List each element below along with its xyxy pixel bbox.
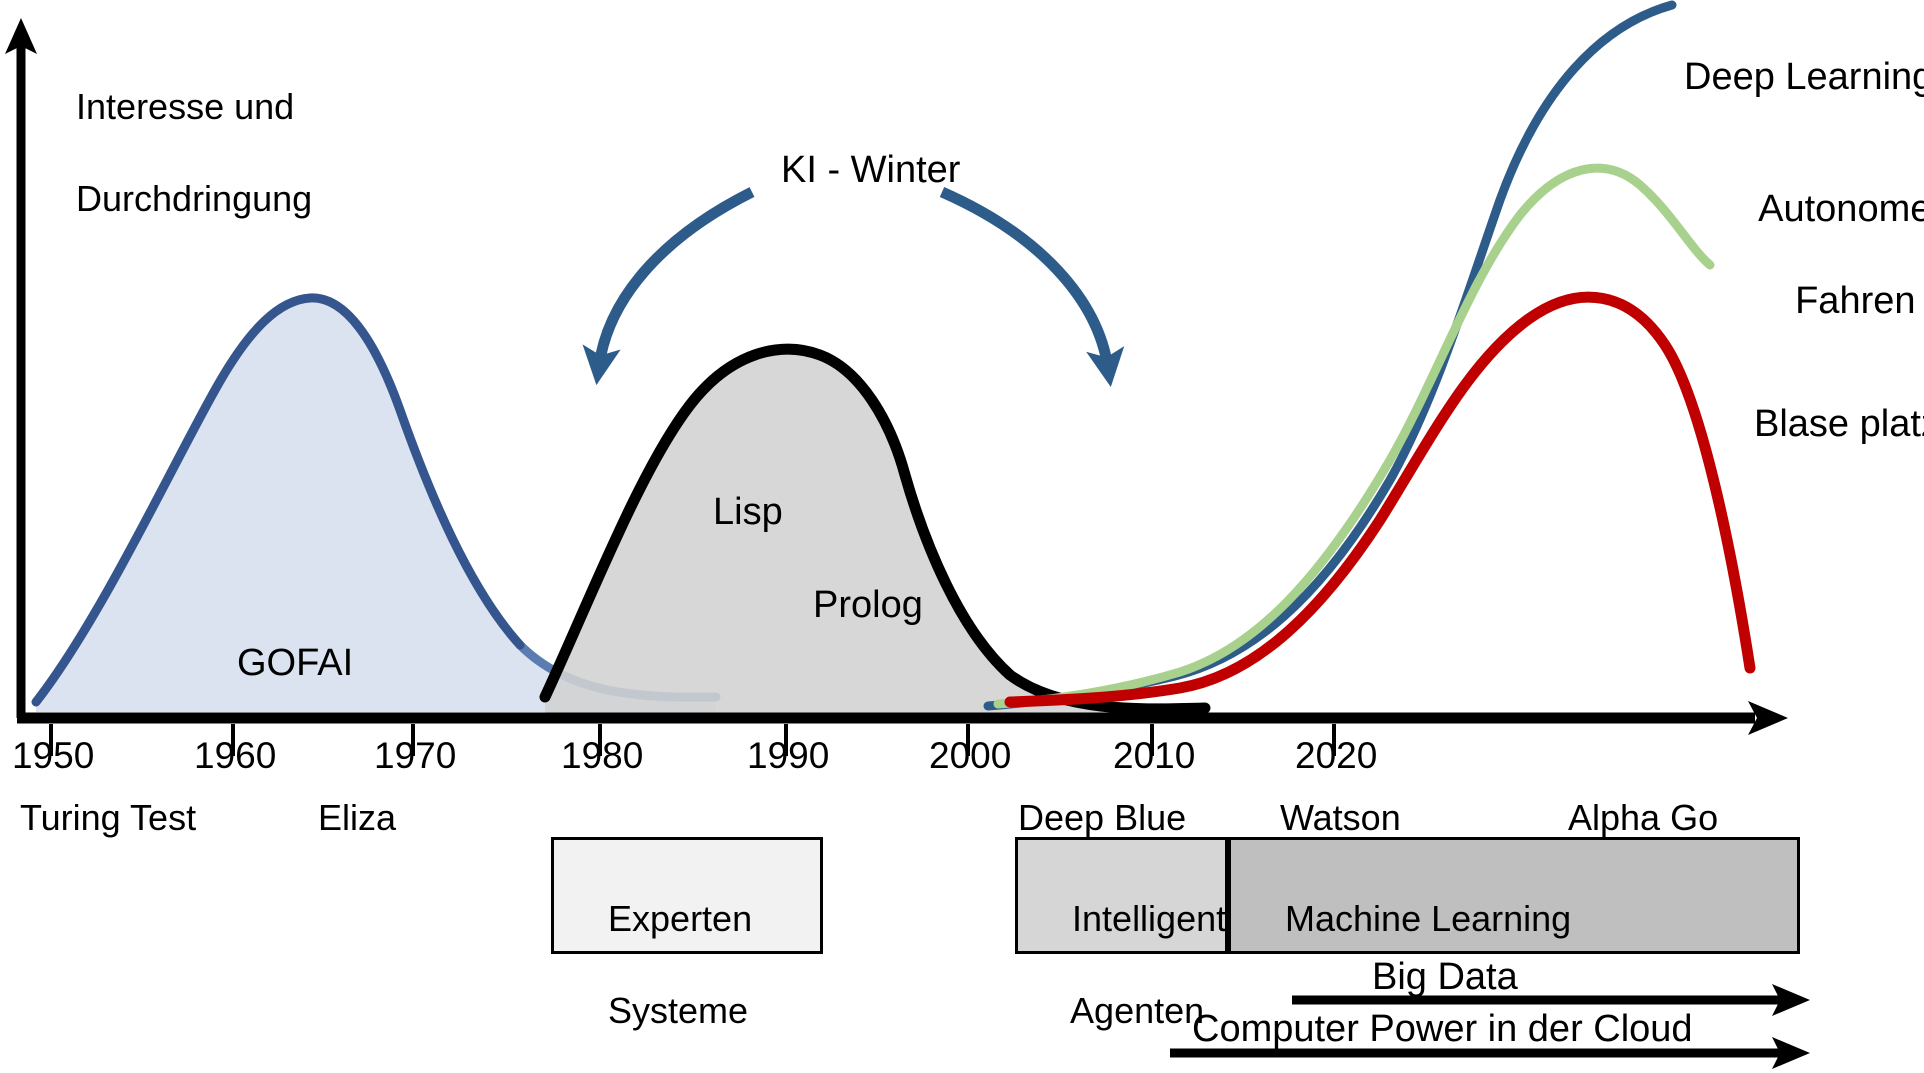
curve-label-prolog: Prolog [813, 582, 923, 628]
x-tick-label-2010: 2010 [1113, 733, 1195, 779]
era-box-expert-systems: Experten Systeme [551, 837, 823, 954]
era-box-expert-line2: Systeme [608, 990, 748, 1031]
era-box-ml-label: Machine Learning [1285, 898, 1571, 939]
x-tick-label-2020: 2020 [1295, 733, 1377, 779]
x-tick-label-1970: 1970 [374, 733, 456, 779]
era-box-agents-line1: Intelligente [1072, 898, 1246, 939]
x-tick-label-1950: 1950 [12, 733, 94, 779]
x-tick-label-1980: 1980 [561, 733, 643, 779]
ki-winter-arrow-right [942, 192, 1108, 368]
era-box-machine-learning: Machine Learning [1228, 837, 1800, 954]
curve-label-ki-winter: KI - Winter [781, 147, 960, 193]
milestone-eliza: Eliza [318, 795, 396, 841]
curve-label-gofai: GOFAI [237, 640, 353, 686]
curve-label-lisp: Lisp [713, 489, 783, 535]
trend-label-big-data: Big Data [1372, 954, 1518, 1000]
milestone-alpha-go: Alpha Go [1568, 795, 1718, 841]
milestone-watson: Watson [1280, 795, 1401, 841]
curve-label-bubble-burst: Blase platzt [1754, 401, 1924, 447]
autonomous-line1: Autonomes [1758, 188, 1924, 230]
milestone-deep-blue: Deep Blue [1018, 795, 1186, 841]
era-box-agents-line2: Agenten [1070, 990, 1204, 1031]
y-axis-label-line1: Interesse und [76, 86, 294, 127]
y-axis-label: Interesse und Durchdringung [36, 38, 312, 268]
ai-timeline-diagram: Interesse und Durchdringung 1950 1960 19… [0, 0, 1924, 1073]
x-tick-label-2000: 2000 [929, 733, 1011, 779]
trend-label-computer-power: Computer Power in der Cloud [1192, 1006, 1693, 1052]
curve-label-deep-learning: Deep Learning [1684, 54, 1924, 100]
y-axis-label-line2: Durchdringung [76, 178, 312, 219]
era-box-intelligent-agents: Intelligente Agenten [1015, 837, 1228, 954]
autonomous-line2: Fahren [1795, 280, 1915, 322]
curve-label-autonomous-driving: Autonomes Fahren [1718, 140, 1924, 370]
milestone-turing-test: Turing Test [20, 795, 196, 841]
era-box-expert-line1: Experten [608, 898, 752, 939]
autonomous-driving-curve [998, 168, 1710, 704]
x-tick-label-1990: 1990 [747, 733, 829, 779]
x-tick-label-1960: 1960 [194, 733, 276, 779]
ki-winter-arrow-left [599, 192, 752, 366]
deep-learning-curve [988, 5, 1672, 706]
